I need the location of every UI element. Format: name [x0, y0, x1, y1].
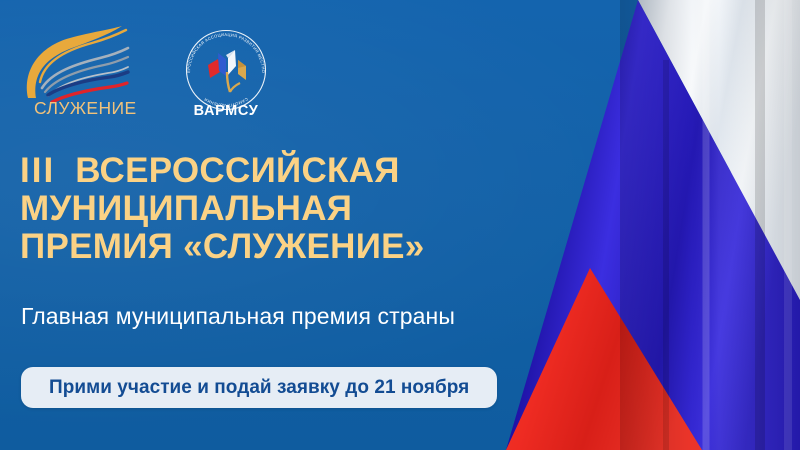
sluzhenie-swoosh-icon — [27, 26, 128, 102]
varmsu-flower-icon — [208, 50, 246, 92]
sluzhenie-logo-svg: СЛУЖЕНИЕ — [18, 22, 136, 116]
subtitle: Главная муниципальная премия страны — [21, 303, 455, 330]
varmsu-wordmark: ВАРМСУ — [194, 103, 259, 118]
sluzhenie-wordmark: СЛУЖЕНИЕ — [34, 98, 136, 116]
logo-varmsu[interactable]: ВСЕРОССИЙСКАЯ АССОЦИАЦИЯ РАЗВИТИЯ МЕСТНО… — [178, 22, 274, 123]
headline-line-1: III ВСЕРОССИЙСКАЯ — [20, 152, 560, 190]
apply-cta-label: Прими участие и подай заявку до 21 ноябр… — [49, 377, 469, 399]
headline-roman-numeral: III — [20, 151, 55, 190]
apply-cta-button[interactable]: Прими участие и подай заявку до 21 ноябр… — [21, 367, 497, 408]
headline-line-2: МУНИЦИПАЛЬНАЯ — [20, 190, 560, 228]
varmsu-logo-svg: ВСЕРОССИЙСКАЯ АССОЦИАЦИЯ РАЗВИТИЯ МЕСТНО… — [178, 22, 274, 118]
headline-line-3: ПРЕМИЯ «СЛУЖЕНИЕ» — [20, 228, 560, 266]
logo-row: СЛУЖЕНИЕ ВСЕРОССИЙСКАЯ АССОЦИАЦИЯ РАЗВИТ… — [18, 22, 274, 123]
page-title: III ВСЕРОССИЙСКАЯ МУНИЦИПАЛЬНАЯ ПРЕМИЯ «… — [20, 152, 560, 266]
headline-line-1-text: ВСЕРОССИЙСКАЯ — [75, 151, 400, 190]
promo-banner: СЛУЖЕНИЕ ВСЕРОССИЙСКАЯ АССОЦИАЦИЯ РАЗВИТ… — [0, 0, 800, 450]
flag-drape-shading — [620, 0, 800, 450]
logo-sluzhenie[interactable]: СЛУЖЕНИЕ — [18, 22, 136, 121]
